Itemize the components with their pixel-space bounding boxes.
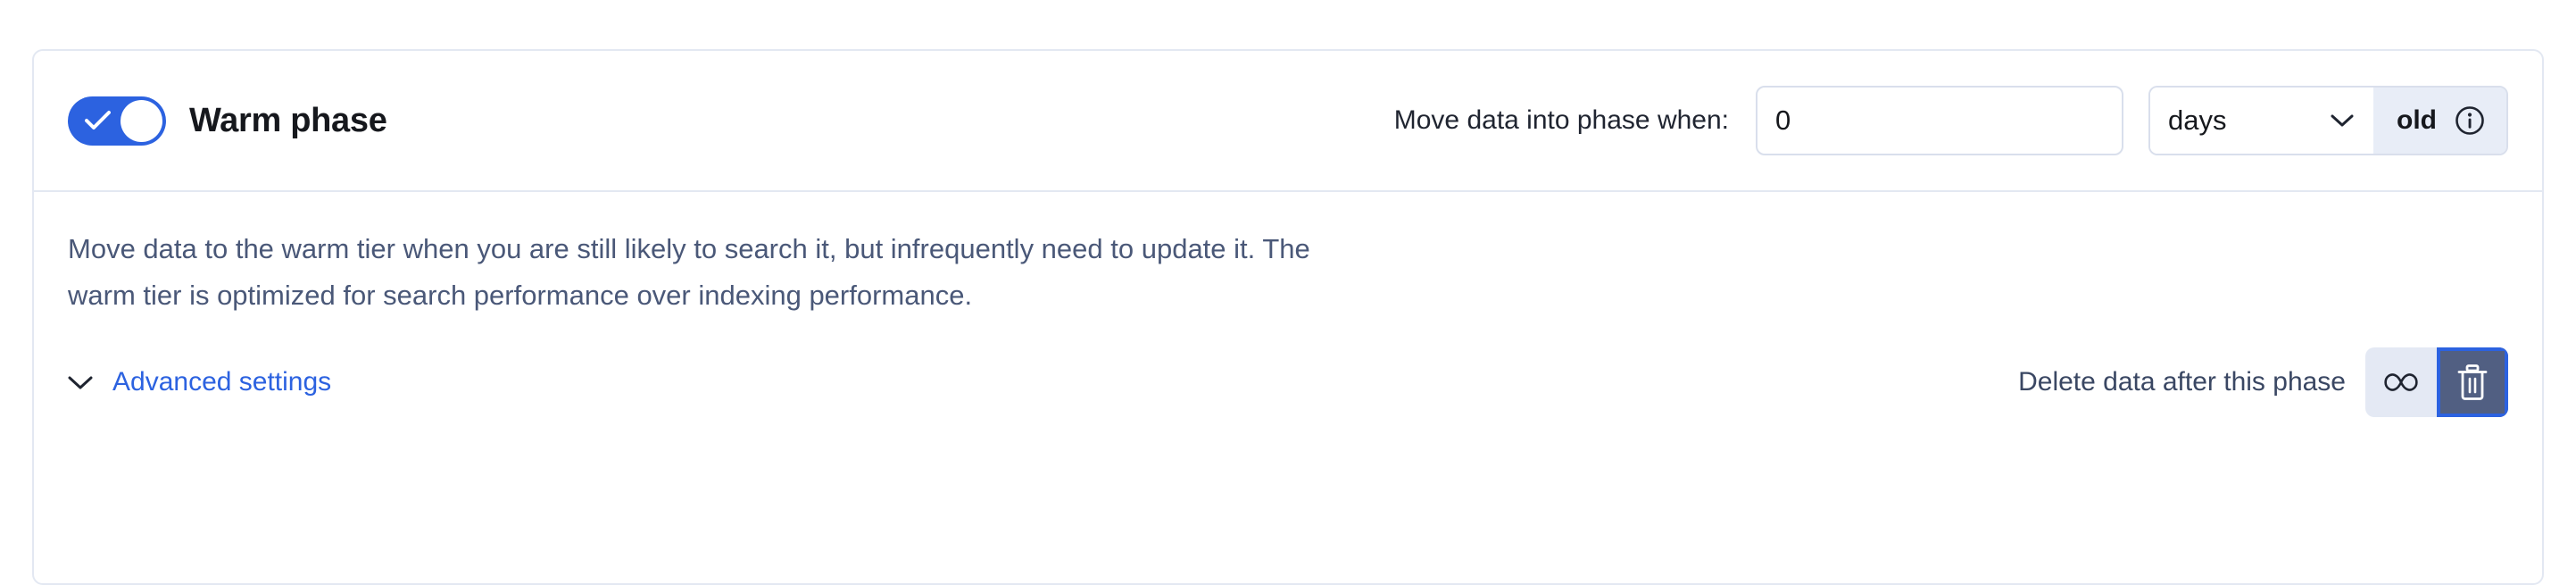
infinity-icon bbox=[2381, 371, 2421, 394]
warm-phase-card: Warm phase Move data into phase when: da… bbox=[32, 49, 2544, 585]
chevron-down-icon bbox=[2331, 113, 2354, 128]
advanced-settings-toggle[interactable]: Advanced settings bbox=[68, 367, 331, 397]
phase-footer: Advanced settings Delete data after this… bbox=[68, 347, 2508, 417]
toggle-knob bbox=[120, 100, 162, 142]
delete-data-button-group bbox=[2365, 347, 2508, 417]
phase-header-right: Move data into phase when: days old bbox=[1394, 86, 2508, 155]
min-age-unit-value: days bbox=[2168, 104, 2226, 137]
phase-description: Move data to the warm tier when you are … bbox=[68, 226, 1317, 319]
chevron-down-icon bbox=[68, 375, 93, 390]
min-age-input[interactable] bbox=[1756, 86, 2123, 155]
delete-data-label: Delete data after this phase bbox=[2018, 367, 2346, 397]
min-age-label: Move data into phase when: bbox=[1394, 105, 1729, 136]
info-circle-icon[interactable] bbox=[2455, 105, 2485, 136]
min-age-append: old bbox=[2373, 88, 2506, 154]
min-age-append-label: old bbox=[2397, 105, 2437, 136]
phase-body: Move data to the warm tier when you are … bbox=[34, 192, 2542, 417]
phase-header-left: Warm phase bbox=[68, 96, 387, 146]
keep-data-forever-button[interactable] bbox=[2365, 347, 2437, 417]
min-age-unit-group: days old bbox=[2148, 86, 2508, 155]
check-icon bbox=[85, 110, 111, 131]
trash-icon bbox=[2456, 364, 2489, 401]
phase-title: Warm phase bbox=[189, 102, 387, 140]
warm-phase-enable-toggle[interactable] bbox=[68, 96, 166, 146]
delete-data-cluster: Delete data after this phase bbox=[2018, 347, 2508, 417]
phase-header: Warm phase Move data into phase when: da… bbox=[34, 51, 2542, 192]
min-age-unit-select[interactable]: days bbox=[2150, 88, 2373, 154]
delete-data-button[interactable] bbox=[2437, 347, 2508, 417]
advanced-settings-label: Advanced settings bbox=[112, 367, 331, 397]
